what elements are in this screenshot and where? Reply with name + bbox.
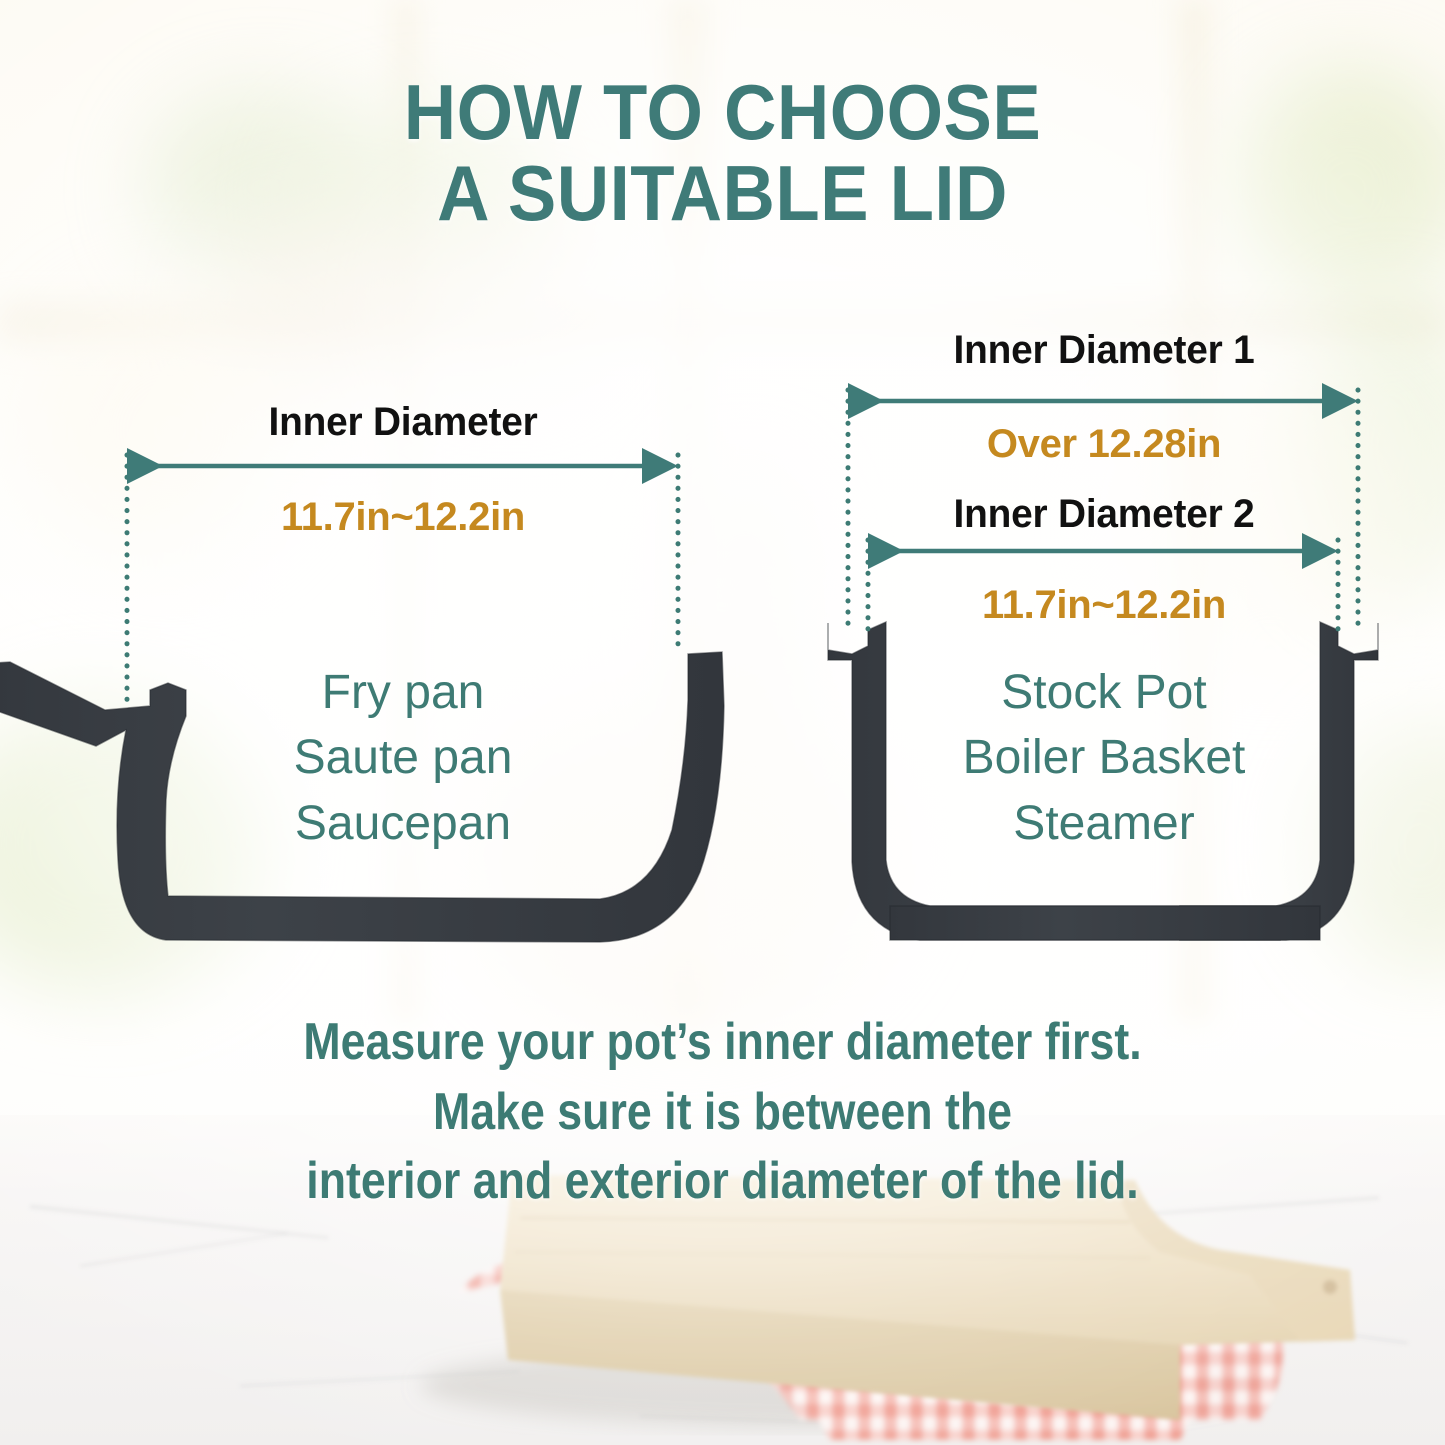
left-cookware-types: Fry pan Saute pan Saucepan — [128, 660, 678, 856]
left-dimension-value: 11.7in~12.2in — [128, 495, 678, 540]
left-dimension-label: Inner Diameter — [136, 400, 670, 445]
instruction-text: Measure your pot’s inner diameter first.… — [101, 1008, 1344, 1217]
infographic-canvas: HOW TO CHOOSE A SUITABLE LID — [0, 0, 1445, 1445]
right-dimension-label-1: Inner Diameter 1 — [856, 328, 1353, 373]
right-dimension-value-1: Over 12.28in — [848, 422, 1360, 467]
right-cookware-types: Stock Pot Boiler Basket Steamer — [848, 660, 1360, 856]
right-dimension-value-2: 11.7in~12.2in — [848, 583, 1360, 628]
right-dimension-label-2: Inner Diameter 2 — [856, 492, 1353, 537]
